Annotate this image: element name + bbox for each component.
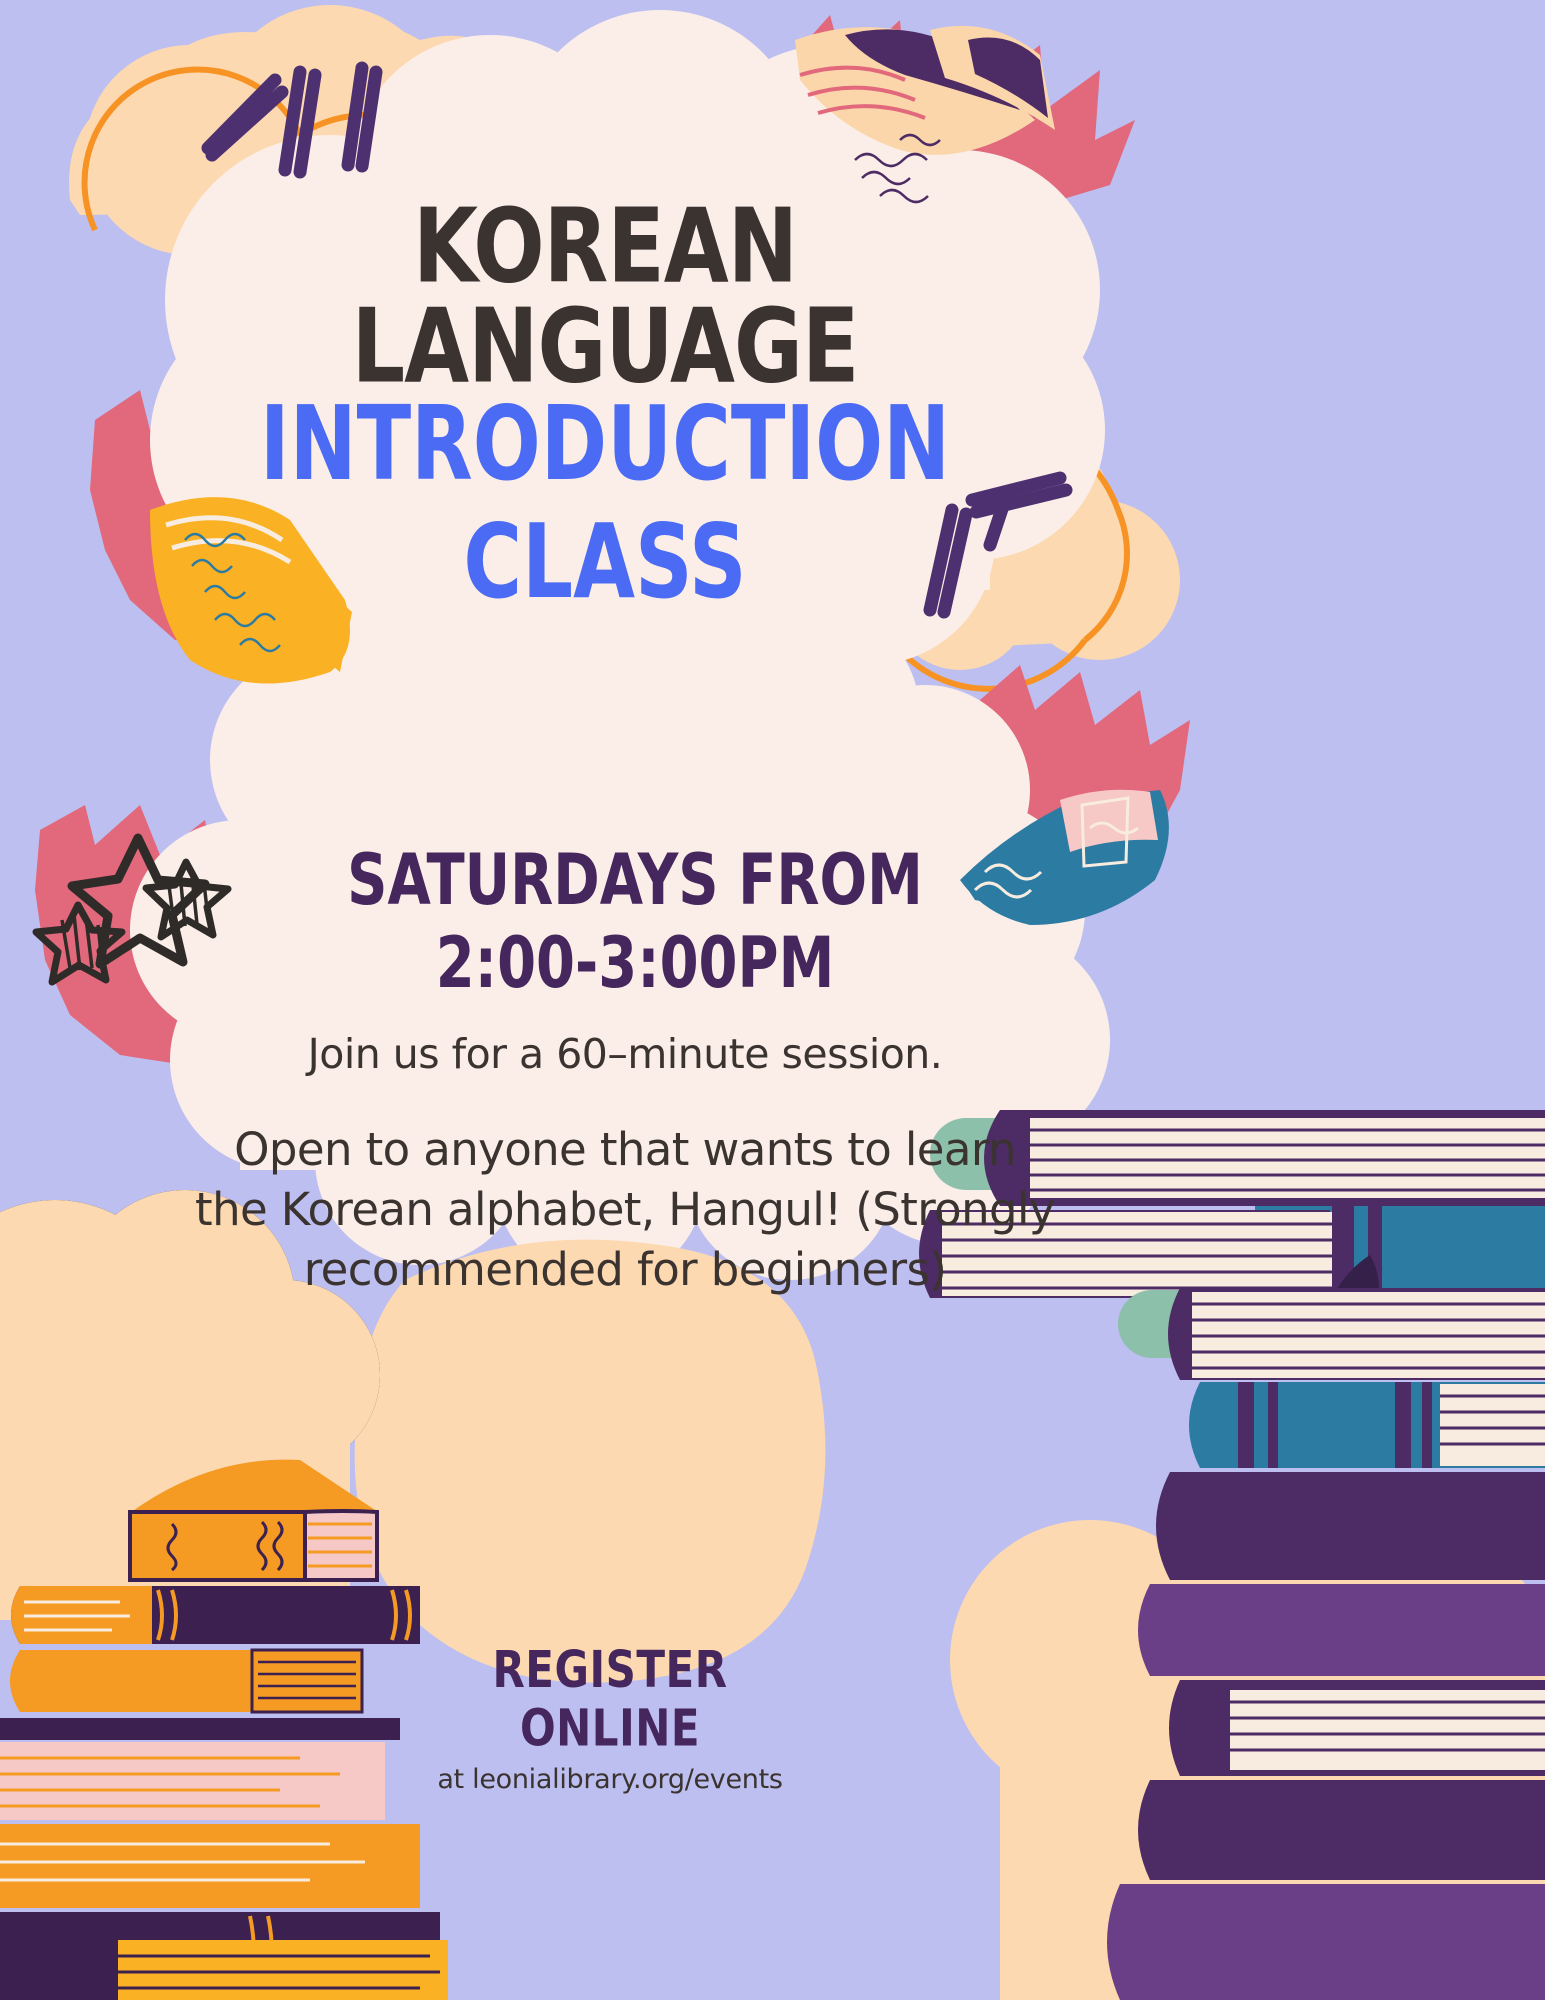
session-description: Open to anyone that wants to learn the K… [195,1120,1055,1300]
doodle-star-large [72,838,205,964]
title-line-1: KOREAN LANGUAGE [170,196,1040,397]
poster-canvas: KOREAN LANGUAGE INTRODUCTION CLASS SATUR… [0,0,1545,2000]
register-url[interactable]: at leonialibrary.org/events [400,1764,820,1795]
schedule-line-1: SATURDAYS FROM [255,845,1015,917]
schedule-heading: SATURDAYS FROM 2:00-3:00PM [255,845,1015,985]
register-title: REGISTER ONLINE [400,1640,820,1758]
sparkle-strokes-top-left [208,68,376,172]
poster-title: KOREAN LANGUAGE INTRODUCTION CLASS [170,196,1040,591]
session-lede: Join us for a 60–minute session. [215,1030,1035,1078]
register-callout: REGISTER ONLINE at leonialibrary.org/eve… [400,1640,820,1795]
title-line-3: CLASS [170,511,1040,613]
schedule-line-2: 2:00-3:00PM [255,928,1015,1000]
open-book-top-right [795,26,1055,202]
title-line-2: INTRODUCTION [170,393,1040,495]
